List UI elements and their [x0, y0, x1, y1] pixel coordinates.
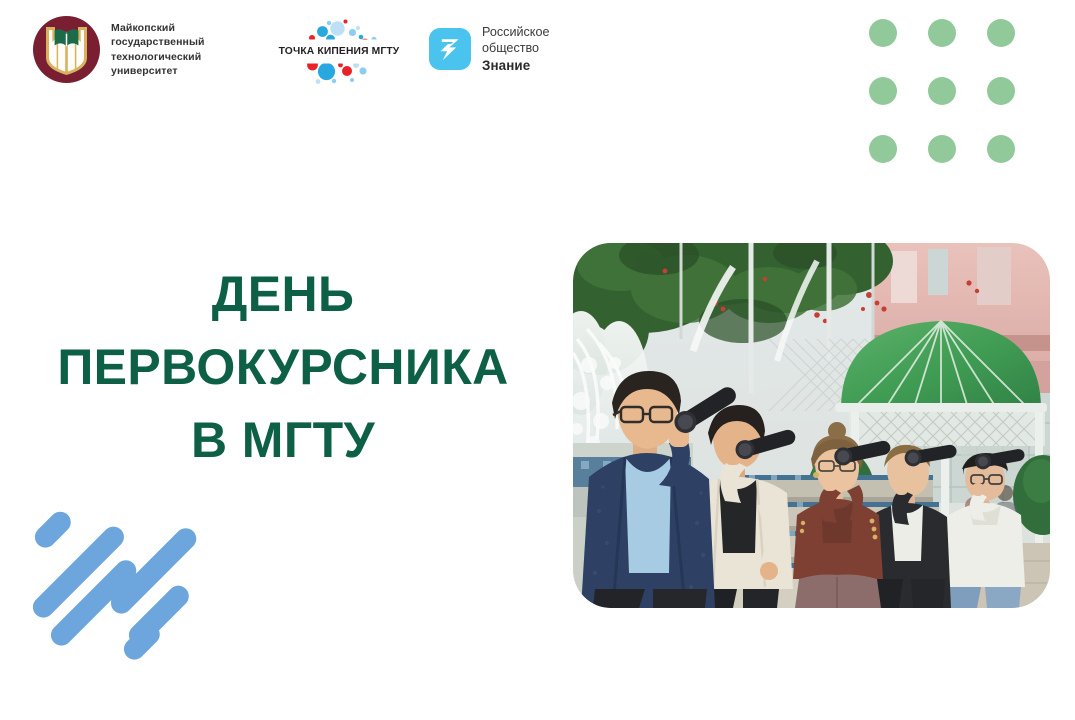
znanie-logo: Российское общество Знание — [429, 24, 549, 75]
znanie-lightning-z-icon — [429, 28, 471, 70]
znanie-logo-line-1: Российское — [482, 24, 549, 40]
green-dot — [869, 135, 897, 163]
green-dot — [987, 19, 1015, 47]
znanie-logo-line-2: общество — [482, 40, 549, 56]
green-dot — [869, 77, 897, 105]
photo-scene — [573, 243, 1050, 608]
mgtu-logo-line-4: университет — [111, 64, 205, 78]
blue-stripe — [31, 507, 76, 552]
mgtu-university-logo: Майкопский государственный технологическ… — [33, 16, 205, 83]
title-line-2: ПЕРВОКУРСНИКА — [28, 331, 538, 404]
mgtu-logo-line-3: технологический — [111, 50, 205, 64]
crest-shield-svg — [44, 24, 89, 76]
green-dot-grid-decoration — [869, 19, 1015, 163]
page-title: ДЕНЬ ПЕРВОКУРСНИКА В МГТУ — [28, 258, 538, 477]
mgtu-logo-line-2: государственный — [111, 35, 205, 49]
title-line-3: В МГТУ — [28, 404, 538, 477]
mgtu-logo-text: Майкопский государственный технологическ… — [111, 21, 205, 79]
tochka-kipeniya-logo: ТОЧКА КИПЕНИЯ МГТУ — [264, 12, 414, 90]
green-dot — [987, 77, 1015, 105]
green-dot — [928, 135, 956, 163]
green-dot — [987, 135, 1015, 163]
green-dot — [869, 19, 897, 47]
book-shield-crest-icon — [33, 16, 100, 83]
photo-illustration-svg — [573, 243, 1050, 608]
title-line-1: ДЕНЬ — [28, 258, 538, 331]
tochka-kipeniya-label: ТОЧКА КИПЕНИЯ МГТУ — [279, 46, 400, 57]
green-dot — [928, 19, 956, 47]
green-dot — [928, 77, 956, 105]
tochka-kipeniya-label-plate: ТОЧКА КИПЕНИЯ МГТУ — [264, 42, 414, 61]
blue-diagonal-stripes-decoration — [8, 528, 188, 656]
freshman-day-performance-photo — [573, 243, 1050, 608]
znanie-logo-brand: Знание — [482, 57, 549, 75]
mgtu-logo-line-1: Майкопский — [111, 21, 205, 35]
znanie-z-glyph-svg — [429, 28, 471, 70]
znanie-logo-text: Российское общество Знание — [482, 24, 549, 75]
poster-canvas: Майкопский государственный технологическ… — [0, 0, 1075, 720]
